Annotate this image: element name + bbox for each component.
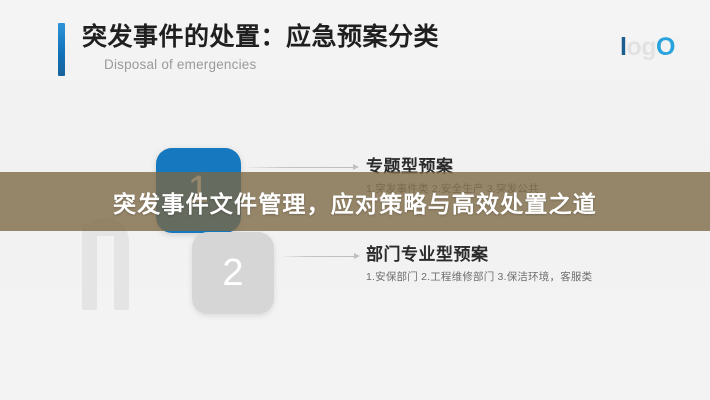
slide-screenshot: 突发事件的处置：应急预案分类 Disposal of emergencies l… — [0, 0, 710, 400]
decorative-shape-notch — [97, 236, 114, 262]
branch-2-title: 部门专业型预案 — [366, 245, 592, 265]
branch-2-description: 1.安保部门 2.工程维修部门 3.保洁环境，客服类 — [366, 269, 592, 284]
decorative-shape — [82, 218, 144, 310]
decorative-shape-leg-left — [82, 224, 97, 310]
overlay-banner: 突发事件文件管理，应对策略与高效处置之道 — [0, 172, 710, 231]
connector-arrow-1 — [248, 167, 354, 168]
branch-2: 部门专业型预案 1.安保部门 2.工程维修部门 3.保洁环境，客服类 — [366, 245, 592, 284]
decorative-shape-leg-right — [114, 248, 129, 310]
diagram-card-2: 2 — [192, 232, 274, 314]
connector-arrow-2 — [283, 256, 355, 257]
overlay-banner-text: 突发事件文件管理，应对策略与高效处置之道 — [113, 185, 597, 219]
